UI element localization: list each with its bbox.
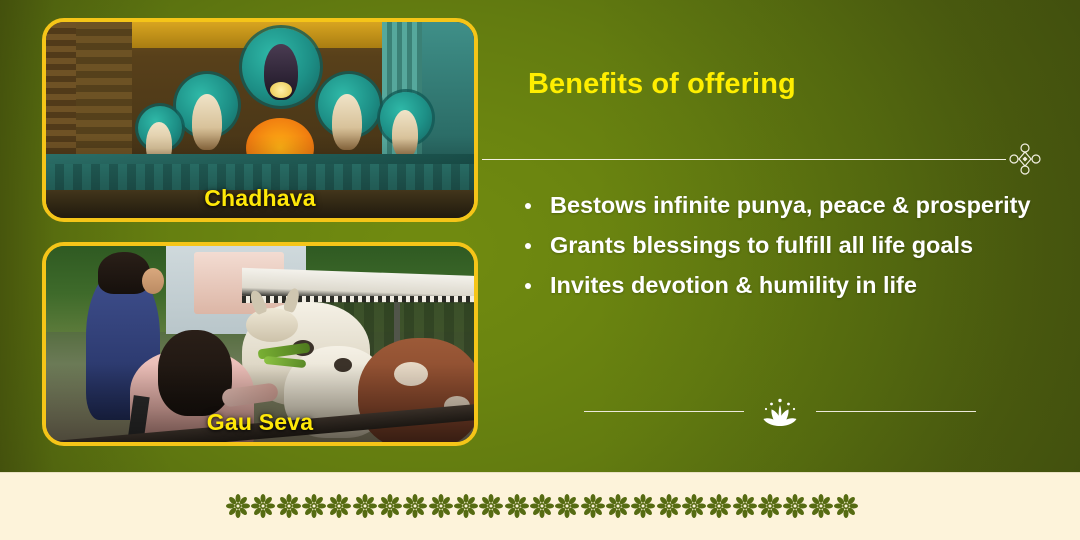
eight-petal-flower-icon <box>631 494 655 518</box>
list-item-text: Bestows infinite punya, peace & prosperi… <box>550 192 1031 218</box>
page-title: Benefits of offering <box>528 68 796 101</box>
bullet-dot-icon <box>525 243 531 249</box>
bullet-dot-icon <box>525 283 531 289</box>
eight-petal-flower-icon <box>353 494 377 518</box>
lotus-icon <box>758 394 802 428</box>
eight-petal-flower-icon <box>505 494 529 518</box>
eight-petal-flower-icon <box>783 494 807 518</box>
eight-petal-flower-icon <box>707 494 731 518</box>
list-item-text: Invites devotion & humility in life <box>550 272 917 298</box>
eight-petal-flower-icon <box>226 494 250 518</box>
slide-root: Chadhava <box>0 0 1080 540</box>
eight-petal-flower-icon <box>327 494 351 518</box>
eight-petal-flower-icon <box>378 494 402 518</box>
eight-petal-flower-icon <box>657 494 681 518</box>
eight-petal-flower-icon <box>302 494 326 518</box>
list-item: Grants blessings to fulfill all life goa… <box>516 226 1046 265</box>
eight-petal-flower-icon <box>606 494 630 518</box>
divider-line-right <box>816 411 976 412</box>
eight-petal-flower-icon <box>555 494 579 518</box>
bullet-dot-icon <box>525 203 531 209</box>
eight-petal-flower-icon <box>581 494 605 518</box>
gau-seva-photo-frame[interactable]: Gau Seva <box>42 242 478 446</box>
knot-diamond-ornament-icon <box>1008 142 1042 176</box>
eight-petal-flower-icon <box>733 494 757 518</box>
chadhava-caption: Chadhava <box>46 185 474 212</box>
eight-petal-flower-icon <box>758 494 782 518</box>
flower-band <box>226 489 858 523</box>
list-item-text: Grants blessings to fulfill all life goa… <box>550 232 973 258</box>
benefits-list: Bestows infinite punya, peace & prosperi… <box>516 186 1046 306</box>
divider-line-left <box>584 411 744 412</box>
eight-petal-flower-icon <box>834 494 858 518</box>
eight-petal-flower-icon <box>403 494 427 518</box>
eight-petal-flower-icon <box>251 494 275 518</box>
divider-line <box>482 159 1006 160</box>
chadhava-photo-frame[interactable]: Chadhava <box>42 18 478 222</box>
bottom-divider <box>584 392 976 430</box>
list-item: Bestows infinite punya, peace & prosperi… <box>516 186 1046 225</box>
list-item: Invites devotion & humility in life <box>516 266 1046 305</box>
eight-petal-flower-icon <box>429 494 453 518</box>
top-divider-rule <box>482 142 1042 176</box>
eight-petal-flower-icon <box>809 494 833 518</box>
eight-petal-flower-icon <box>277 494 301 518</box>
eight-petal-flower-icon <box>682 494 706 518</box>
eight-petal-flower-icon <box>479 494 503 518</box>
eight-petal-flower-icon <box>530 494 554 518</box>
gau-seva-caption: Gau Seva <box>46 409 474 436</box>
eight-petal-flower-icon <box>454 494 478 518</box>
